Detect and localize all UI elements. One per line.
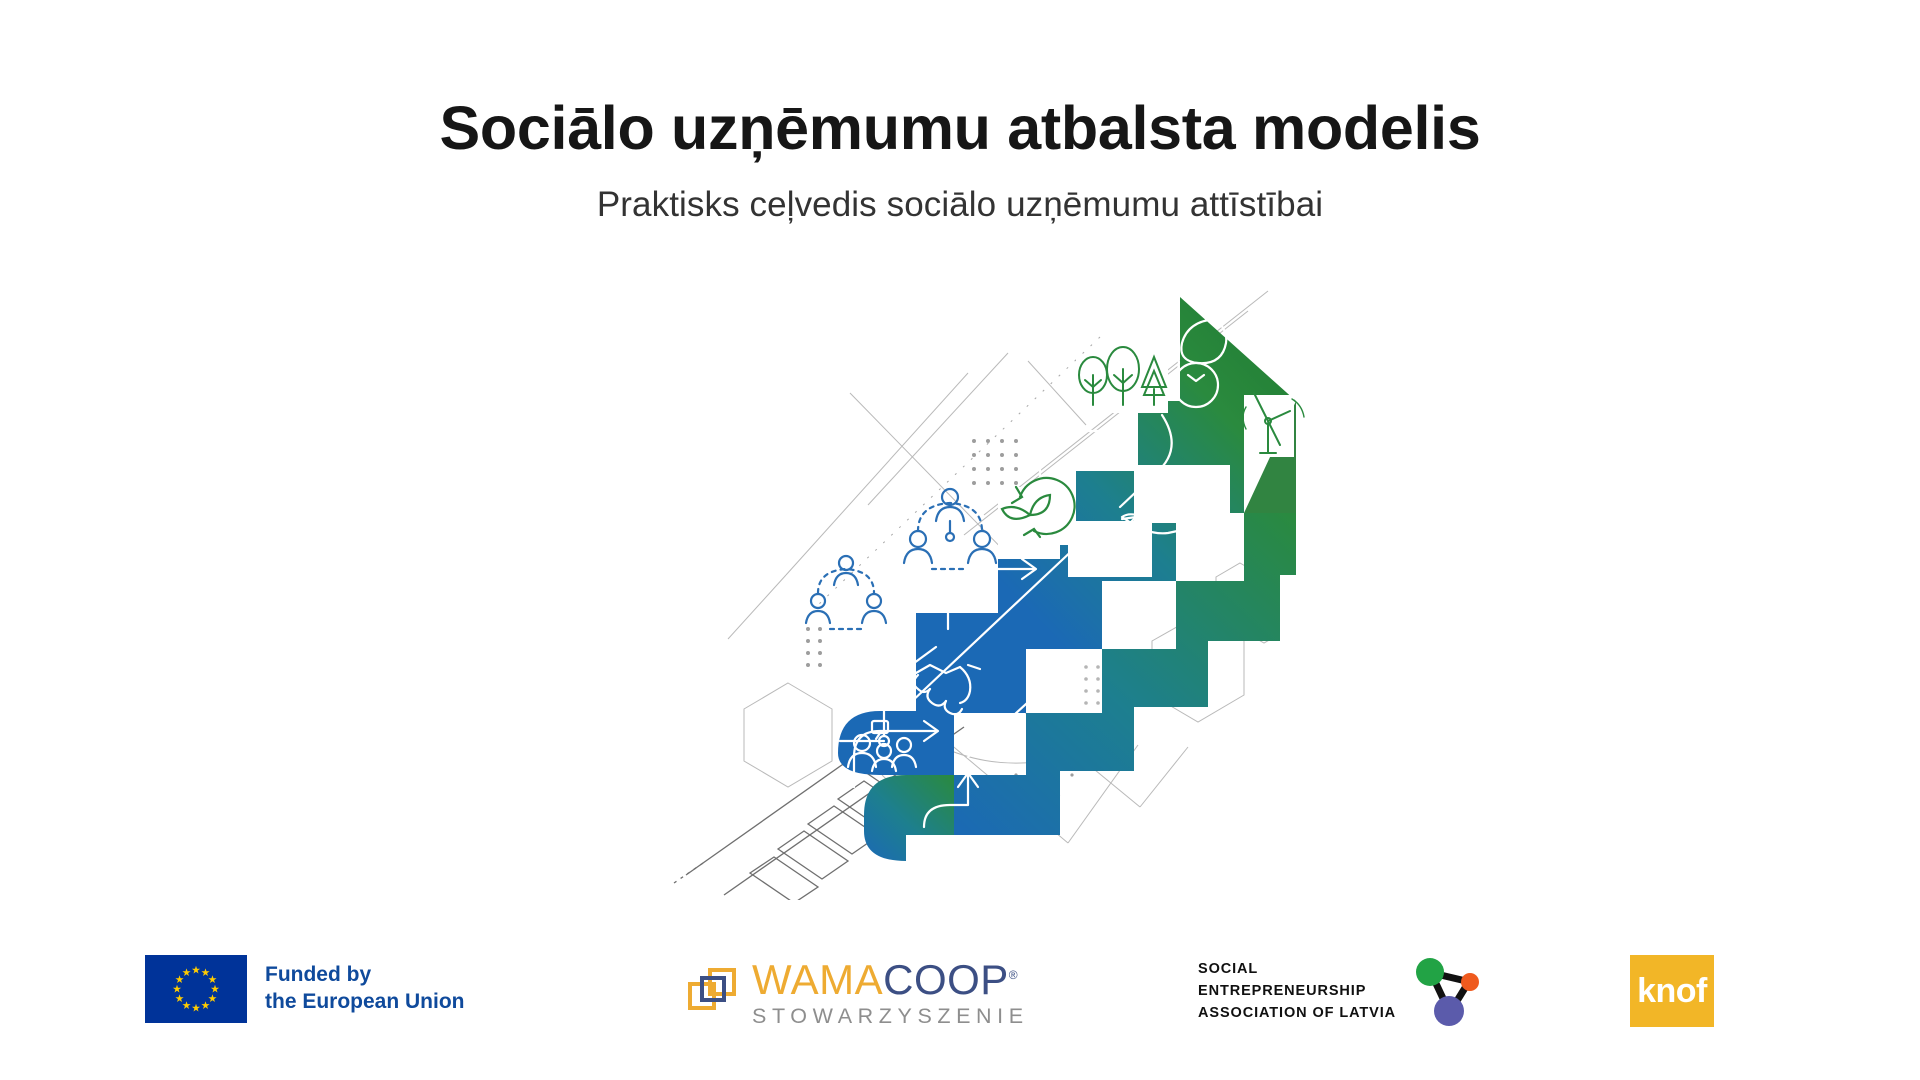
seal-logo-line2: ENTREPRENEURSHIP (1198, 981, 1396, 1003)
knof-logo: knof (1630, 955, 1714, 1027)
title-block: Sociālo uzņēmumu atbalsta modelis Prakti… (0, 96, 1920, 226)
presentation-slide: Sociālo uzņēmumu atbalsta modelis Prakti… (0, 0, 1920, 1080)
wamacoop-tagline: STOWARZYSZENIE (752, 1006, 1029, 1028)
registered-mark-icon: ® (1009, 968, 1018, 982)
knof-logo-box: knof (1630, 955, 1714, 1027)
page-subtitle: Praktisks ceļvedis sociālo uzņēmumu attī… (0, 184, 1920, 226)
seal-logo-text: SOCIAL ENTREPRENEURSHIP ASSOCIATION OF L… (1198, 959, 1396, 1024)
eu-logo-line1: Funded by (265, 962, 465, 989)
wamacoop-name-line: WAMACOOP® (752, 959, 1029, 1001)
staircase-arrow-shape (838, 297, 1296, 861)
seal-logo: SOCIAL ENTREPRENEURSHIP ASSOCIATION OF L… (1198, 953, 1484, 1031)
eu-flag-icon (145, 955, 247, 1023)
wamacoop-mark-icon (688, 966, 742, 1020)
seal-logo-line3: ASSOCIATION OF LATVIA (1198, 1003, 1396, 1025)
people-network-icon-lower (806, 556, 886, 629)
seal-logo-line1: SOCIAL (1198, 959, 1396, 981)
people-network-icon-upper (904, 489, 996, 569)
seal-network-icon (1406, 953, 1484, 1031)
wamacoop-word-wama: WAMA (752, 956, 883, 1003)
page-title: Sociālo uzņēmumu atbalsta modelis (0, 96, 1920, 162)
wamacoop-word-coop: COOP (883, 956, 1009, 1003)
growth-staircase-illustration (668, 275, 1328, 900)
eu-logo-line2: the European Union (265, 989, 465, 1016)
funded-by-eu-logo: Funded by the European Union (145, 955, 465, 1023)
eu-logo-text: Funded by the European Union (265, 962, 465, 1016)
knof-logo-word: knof (1637, 974, 1707, 1008)
wamacoop-logo: WAMACOOP® STOWARZYSZENIE (688, 959, 1029, 1028)
partner-logo-bar: Funded by the European Union WAMACOOP® S… (0, 945, 1920, 1080)
wamacoop-wordmark: WAMACOOP® STOWARZYSZENIE (752, 959, 1029, 1028)
